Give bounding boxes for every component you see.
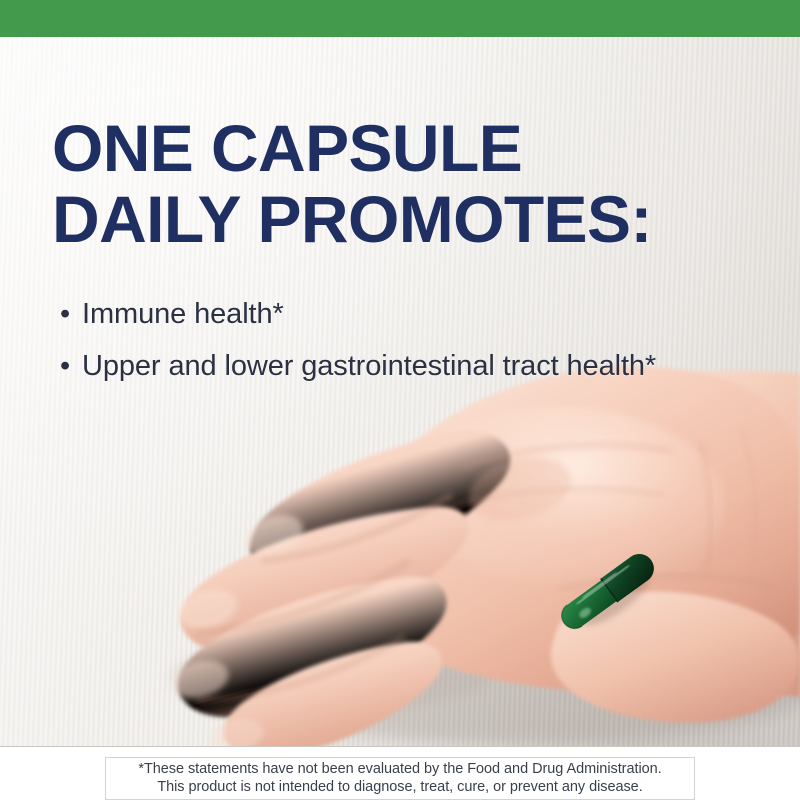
list-item: • Immune health* — [60, 295, 700, 333]
benefits-list: • Immune health* • Upper and lower gastr… — [60, 295, 700, 399]
benefit-text: Immune health* — [82, 295, 700, 333]
benefit-text: Upper and lower gastrointestinal tract h… — [82, 347, 700, 385]
bullet-dot-icon: • — [60, 295, 82, 333]
disclaimer-line-2: This product is not intended to diagnose… — [110, 778, 690, 796]
fda-disclaimer: *These statements have not been evaluate… — [105, 757, 695, 800]
product-marketing-image: ONE CAPSULE DAILY PROMOTES: • Immune hea… — [0, 0, 800, 800]
list-item: • Upper and lower gastrointestinal tract… — [60, 347, 700, 385]
footer: *These statements have not been evaluate… — [0, 747, 800, 800]
headline-line-1: ONE CAPSULE — [52, 113, 732, 184]
hero-product-photo: ONE CAPSULE DAILY PROMOTES: • Immune hea… — [0, 37, 800, 747]
bullet-dot-icon: • — [60, 347, 82, 385]
disclaimer-line-1: *These statements have not been evaluate… — [110, 760, 690, 778]
green-accent-bar — [0, 0, 800, 37]
capsule — [556, 548, 666, 642]
headline: ONE CAPSULE DAILY PROMOTES: — [52, 113, 732, 255]
headline-line-2: DAILY PROMOTES: — [52, 184, 732, 255]
